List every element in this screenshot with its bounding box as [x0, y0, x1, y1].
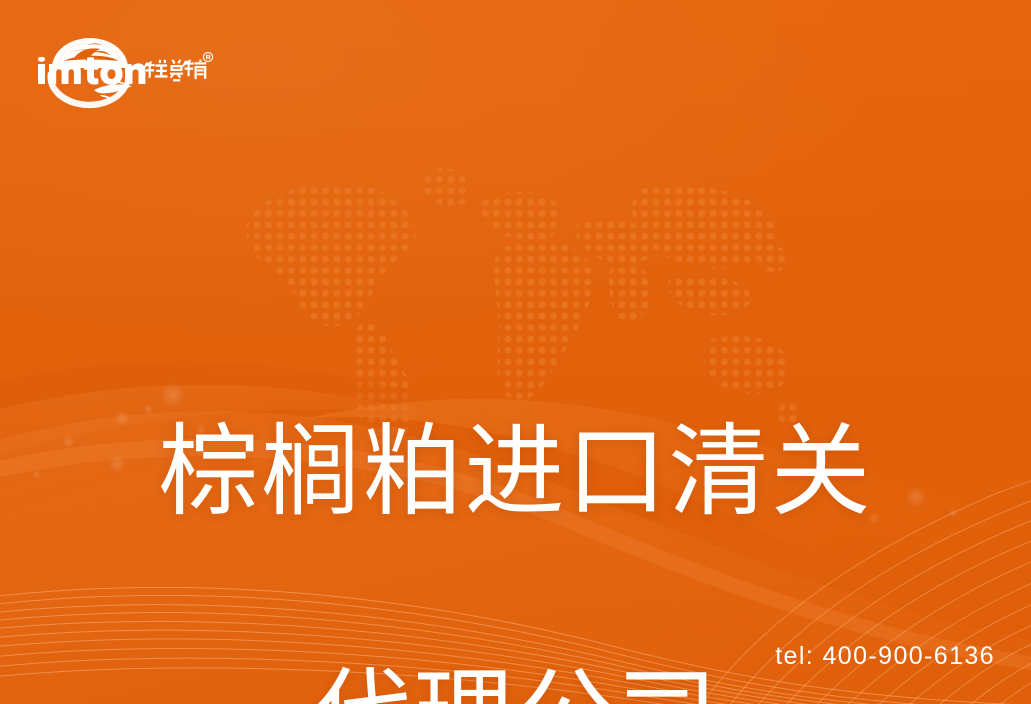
contact-telephone[interactable]: tel: 400-900-6136: [775, 642, 995, 671]
page-title-line-1: 棕榈粕进口清关: [0, 411, 1031, 533]
brand-logo[interactable]: [34, 28, 214, 104]
promo-banner: 棕榈粕进口清关 代理公司 tel: 400-900-6136: [0, 0, 1031, 704]
registered-trademark-icon: [203, 52, 212, 61]
logo-chinese-name: [143, 60, 206, 82]
